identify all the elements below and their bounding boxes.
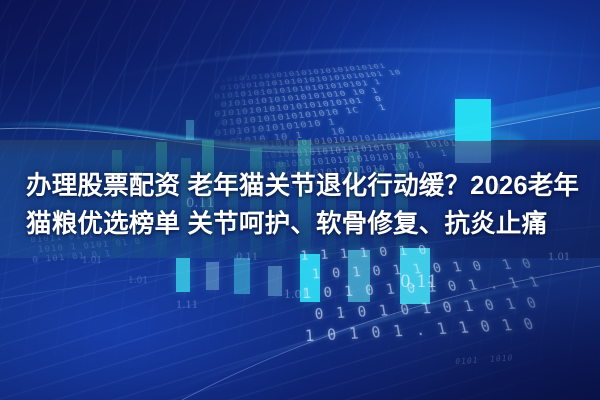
ticker-number: 0.11 <box>236 252 258 263</box>
ticker-number: 1.01 <box>82 256 102 266</box>
glow-bar <box>206 262 219 290</box>
glow-bar <box>176 258 190 292</box>
banner-headline: 办理股票配资 老年猫关节退化行动缓？2026老年猫粮优选榜单 关节呵护、软骨修复… <box>26 167 582 243</box>
glow-bar <box>268 266 282 296</box>
binary-code-lower: 1 1 1 1 0 1 0 1 0 1 0 1 1 0 1 0 1 0 1 0 … <box>300 233 600 349</box>
glow-bar <box>455 99 491 141</box>
ticker-number: 1.01 <box>284 288 309 301</box>
ticker-number: 1.01 <box>548 252 570 263</box>
glow-bar <box>234 258 250 294</box>
ticker-number: 1.11 <box>176 300 198 311</box>
banner-image: 0101010101010101010101010101 01010101010… <box>0 0 600 400</box>
ticker-number: 1.01 <box>128 276 148 286</box>
glow-bar <box>186 120 194 140</box>
ticker-number: 0.11 <box>400 272 438 292</box>
glow-bar <box>455 141 491 163</box>
